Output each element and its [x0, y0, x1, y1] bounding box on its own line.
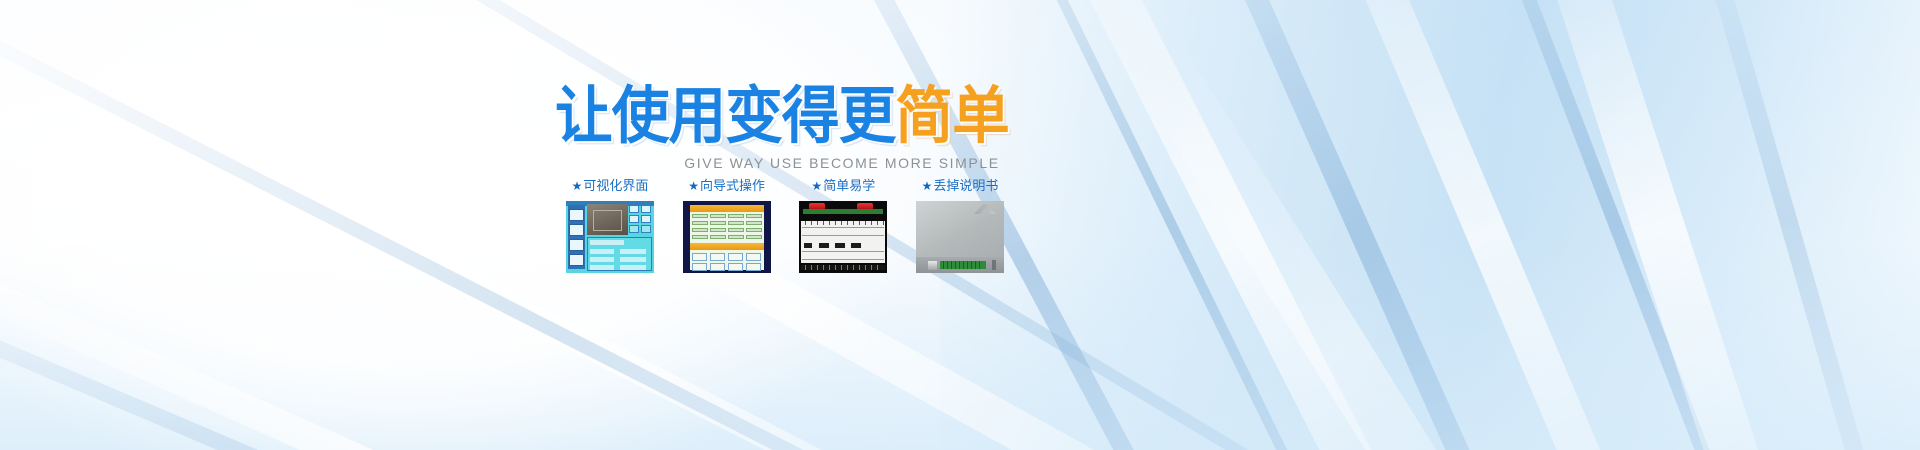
feature-label-wrapper: ★ 简单易学	[811, 178, 875, 194]
feature-item-wizard-operation[interactable]: ★ 向导式操作	[677, 178, 777, 273]
feature-thumbnail-visual-interface[interactable]	[566, 201, 654, 273]
headline-blue-text: 让使用变得更	[555, 79, 895, 152]
feature-label-wrapper: ★ 可视化界面	[572, 178, 649, 194]
star-icon: ★	[811, 180, 822, 192]
star-icon: ★	[688, 180, 699, 192]
headline-orange-text: 简单	[895, 79, 1008, 152]
promo-banner: 让使用变得更简单 GIVE WAY USE BECOME MORE SIMPLE…	[0, 0, 1920, 450]
feature-label-wrapper: ★ 向导式操作	[688, 178, 765, 194]
feature-thumbnail-no-manual[interactable]	[916, 201, 1004, 273]
feature-label: 可视化界面	[583, 178, 648, 194]
subtitle: GIVE WAY USE BECOME MORE SIMPLE	[672, 155, 1012, 171]
star-icon: ★	[922, 180, 933, 192]
feature-label: 简单易学	[823, 178, 875, 194]
star-icon: ★	[572, 180, 583, 192]
feature-list: ★ 可视化界面	[560, 178, 1010, 273]
banner-content: 让使用变得更简单 GIVE WAY USE BECOME MORE SIMPLE…	[0, 0, 1920, 450]
feature-label: 向导式操作	[700, 178, 765, 194]
feature-label-wrapper: ★ 丢掉说明书	[922, 178, 999, 194]
feature-item-no-manual[interactable]: ★ 丢掉说明书	[910, 178, 1010, 273]
feature-item-easy-to-learn[interactable]: ★ 简单易学	[793, 178, 893, 273]
feature-item-visual-interface[interactable]: ★ 可视化界面	[560, 178, 660, 273]
feature-label: 丢掉说明书	[933, 178, 998, 194]
feature-thumbnail-easy-to-learn[interactable]	[799, 201, 887, 273]
feature-thumbnail-wizard-operation[interactable]	[683, 201, 771, 273]
page-title: 让使用变得更简单	[555, 82, 992, 152]
